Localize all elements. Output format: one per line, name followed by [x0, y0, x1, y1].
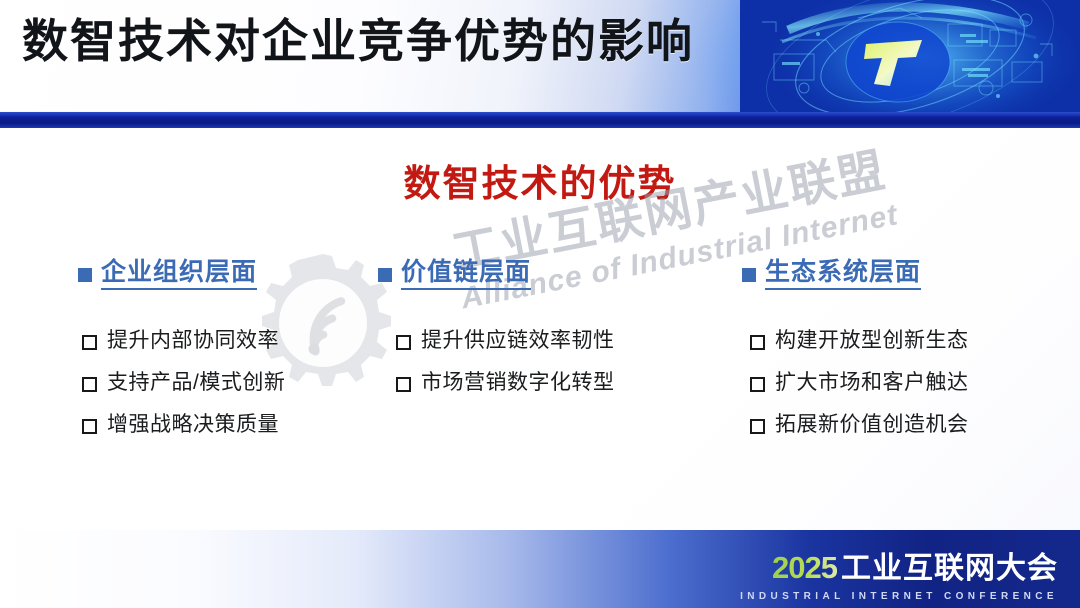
hollow-square-icon	[396, 377, 411, 392]
column-enterprise-organization: 企业组织层面 提升内部协同效率 支持产品/模式创新 增强战略决策质量	[78, 258, 285, 455]
conference-logo-main: 2025 工业互联网大会	[772, 543, 1058, 587]
column-heading-enterprise-organization: 企业组织层面	[78, 258, 285, 290]
list-item-label: 提升供应链效率韧性	[421, 328, 615, 354]
filled-square-icon	[742, 268, 756, 282]
list-item-label: 构建开放型创新生态	[775, 328, 969, 354]
list-item-label: 支持产品/模式创新	[107, 370, 285, 396]
list-item-label: 市场营销数字化转型	[421, 370, 615, 396]
column-value-chain: 价值链层面 提升供应链效率韧性 市场营销数字化转型	[378, 258, 615, 412]
bullet-list-enterprise-organization: 提升内部协同效率 支持产品/模式创新 增强战略决策质量	[82, 328, 285, 439]
hollow-square-icon	[82, 377, 97, 392]
section-subtitle: 数智技术的优势	[0, 153, 1080, 207]
column-heading-label: 生态系统层面	[765, 258, 921, 290]
slide-footer: 2025 工业互联网大会 INDUSTRIAL INTERNET CONFERE…	[0, 530, 1080, 608]
list-item: 提升内部协同效率	[82, 328, 285, 354]
hollow-square-icon	[750, 377, 765, 392]
list-item: 构建开放型创新生态	[750, 328, 969, 354]
list-item-label: 增强战略决策质量	[107, 412, 279, 438]
hollow-square-icon	[750, 335, 765, 350]
slide-header: 数智技术对企业竞争优势的影响	[0, 0, 1080, 112]
list-item-label: 提升内部协同效率	[107, 328, 279, 354]
list-item: 支持产品/模式创新	[82, 370, 285, 396]
filled-square-icon	[378, 268, 392, 282]
conference-name-cn: 工业互联网大会	[841, 543, 1058, 587]
conference-logo: 2025 工业互联网大会 INDUSTRIAL INTERNET CONFERE…	[740, 543, 1058, 602]
slide: 数智技术对企业竞争优势的影响 数智技术的优势	[0, 0, 1080, 608]
bullet-list-value-chain: 提升供应链效率韧性 市场营销数字化转型	[396, 328, 615, 397]
header-tech-graphic	[740, 0, 1080, 112]
conference-year: 2025	[772, 550, 837, 586]
header-divider-bar	[0, 112, 1080, 128]
list-item: 提升供应链效率韧性	[396, 328, 615, 354]
column-heading-label: 企业组织层面	[101, 258, 257, 290]
list-item: 增强战略决策质量	[82, 412, 285, 438]
list-item-label: 拓展新价值创造机会	[775, 412, 969, 438]
hollow-square-icon	[82, 419, 97, 434]
column-heading-label: 价值链层面	[401, 258, 531, 290]
page-title: 数智技术对企业竞争优势的影响	[22, 18, 694, 64]
hollow-square-icon	[750, 419, 765, 434]
filled-square-icon	[78, 268, 92, 282]
list-item: 市场营销数字化转型	[396, 370, 615, 396]
list-item: 拓展新价值创造机会	[750, 412, 969, 438]
hollow-square-icon	[82, 335, 97, 350]
column-ecosystem: 生态系统层面 构建开放型创新生态 扩大市场和客户触达 拓展新价值创造机会	[742, 258, 969, 455]
list-item: 扩大市场和客户触达	[750, 370, 969, 396]
hollow-square-icon	[396, 335, 411, 350]
column-heading-value-chain: 价值链层面	[378, 258, 615, 290]
column-heading-ecosystem: 生态系统层面	[742, 258, 969, 290]
list-item-label: 扩大市场和客户触达	[775, 370, 969, 396]
bullet-list-ecosystem: 构建开放型创新生态 扩大市场和客户触达 拓展新价值创造机会	[750, 328, 969, 439]
content-columns: 企业组织层面 提升内部协同效率 支持产品/模式创新 增强战略决策质量	[0, 258, 1080, 498]
conference-name-en: INDUSTRIAL INTERNET CONFERENCE	[740, 591, 1058, 602]
